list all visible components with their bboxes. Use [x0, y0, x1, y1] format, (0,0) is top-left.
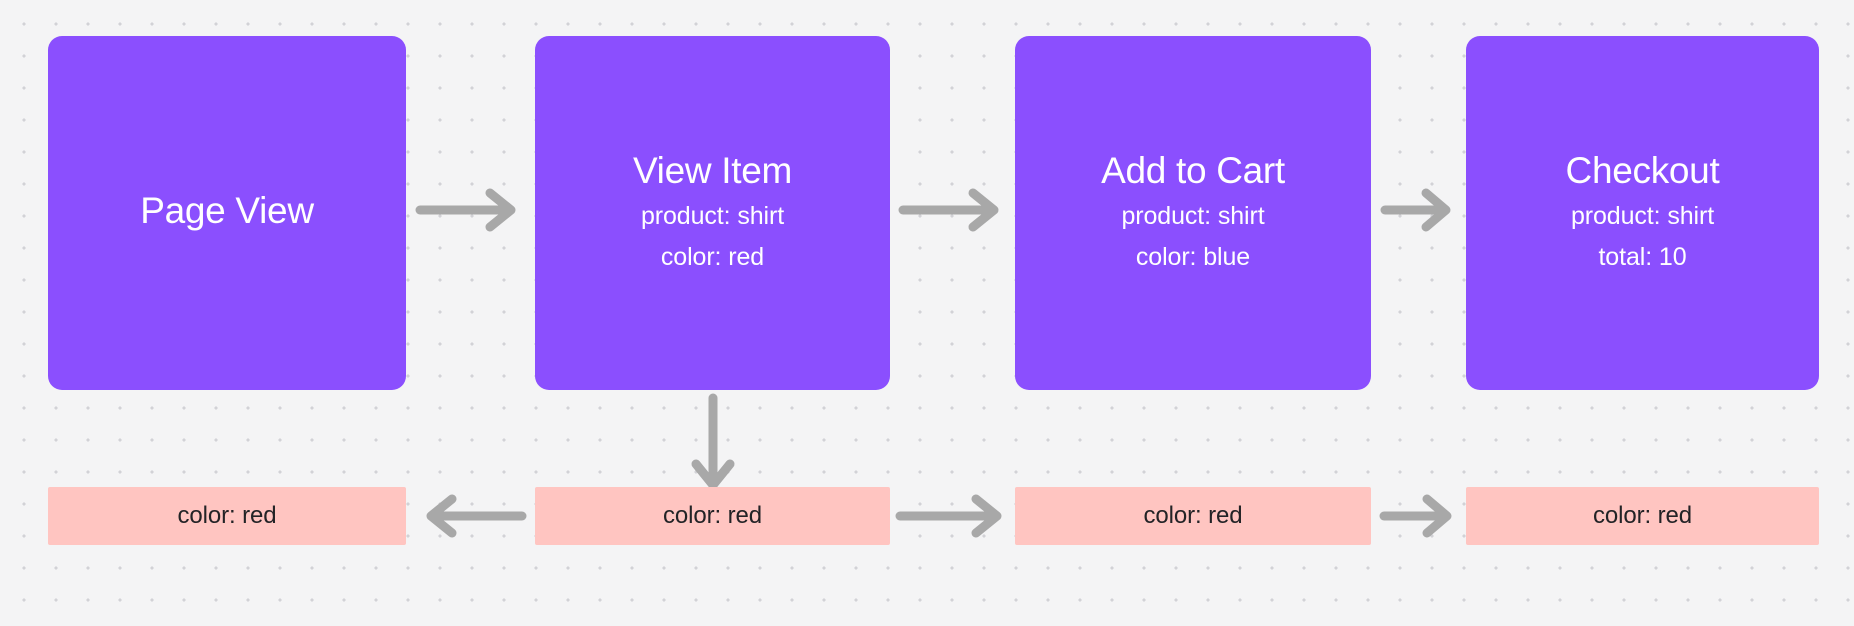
event-node-view-item[interactable]: View Item product: shirt color: red	[535, 36, 890, 390]
event-node-properties: product: shirt total: 10	[1571, 196, 1714, 277]
property-box-label: color: red	[177, 504, 276, 528]
arrow-add-to-cart-to-checkout	[1383, 190, 1458, 230]
arrow-view-item-down-to-property	[690, 396, 736, 496]
event-node-property: product: shirt	[1121, 196, 1264, 237]
event-node-property: product: shirt	[1571, 196, 1714, 237]
property-box-label: color: red	[1143, 504, 1242, 528]
event-node-title: Checkout	[1566, 149, 1720, 193]
property-box-label: color: red	[663, 504, 762, 528]
event-node-property: total: 10	[1571, 237, 1714, 278]
event-node-add-to-cart[interactable]: Add to Cart product: shirt color: blue	[1015, 36, 1371, 390]
property-box-label: color: red	[1593, 504, 1692, 528]
event-node-property: color: blue	[1121, 237, 1264, 278]
arrow-property-3-to-property-4	[1382, 496, 1460, 536]
event-node-properties: product: shirt color: red	[641, 196, 784, 277]
property-box-3[interactable]: color: red	[1015, 487, 1371, 545]
event-node-title: View Item	[633, 149, 792, 193]
event-node-property: color: red	[641, 237, 784, 278]
arrow-view-item-to-add-to-cart	[901, 190, 1006, 230]
event-node-property: product: shirt	[641, 196, 784, 237]
flow-canvas[interactable]: Page View View Item product: shirt color…	[0, 0, 1854, 626]
event-node-checkout[interactable]: Checkout product: shirt total: 10	[1466, 36, 1819, 390]
arrow-page-view-to-view-item	[418, 190, 523, 230]
event-node-title: Page View	[140, 189, 314, 233]
event-node-properties: product: shirt color: blue	[1121, 196, 1264, 277]
property-box-1[interactable]: color: red	[48, 487, 406, 545]
event-node-page-view[interactable]: Page View	[48, 36, 406, 390]
arrow-property-2-to-property-3	[898, 496, 1010, 536]
arrow-property-2-to-property-1	[412, 496, 527, 536]
event-node-title: Add to Cart	[1101, 149, 1285, 193]
property-box-4[interactable]: color: red	[1466, 487, 1819, 545]
property-box-2[interactable]: color: red	[535, 487, 890, 545]
